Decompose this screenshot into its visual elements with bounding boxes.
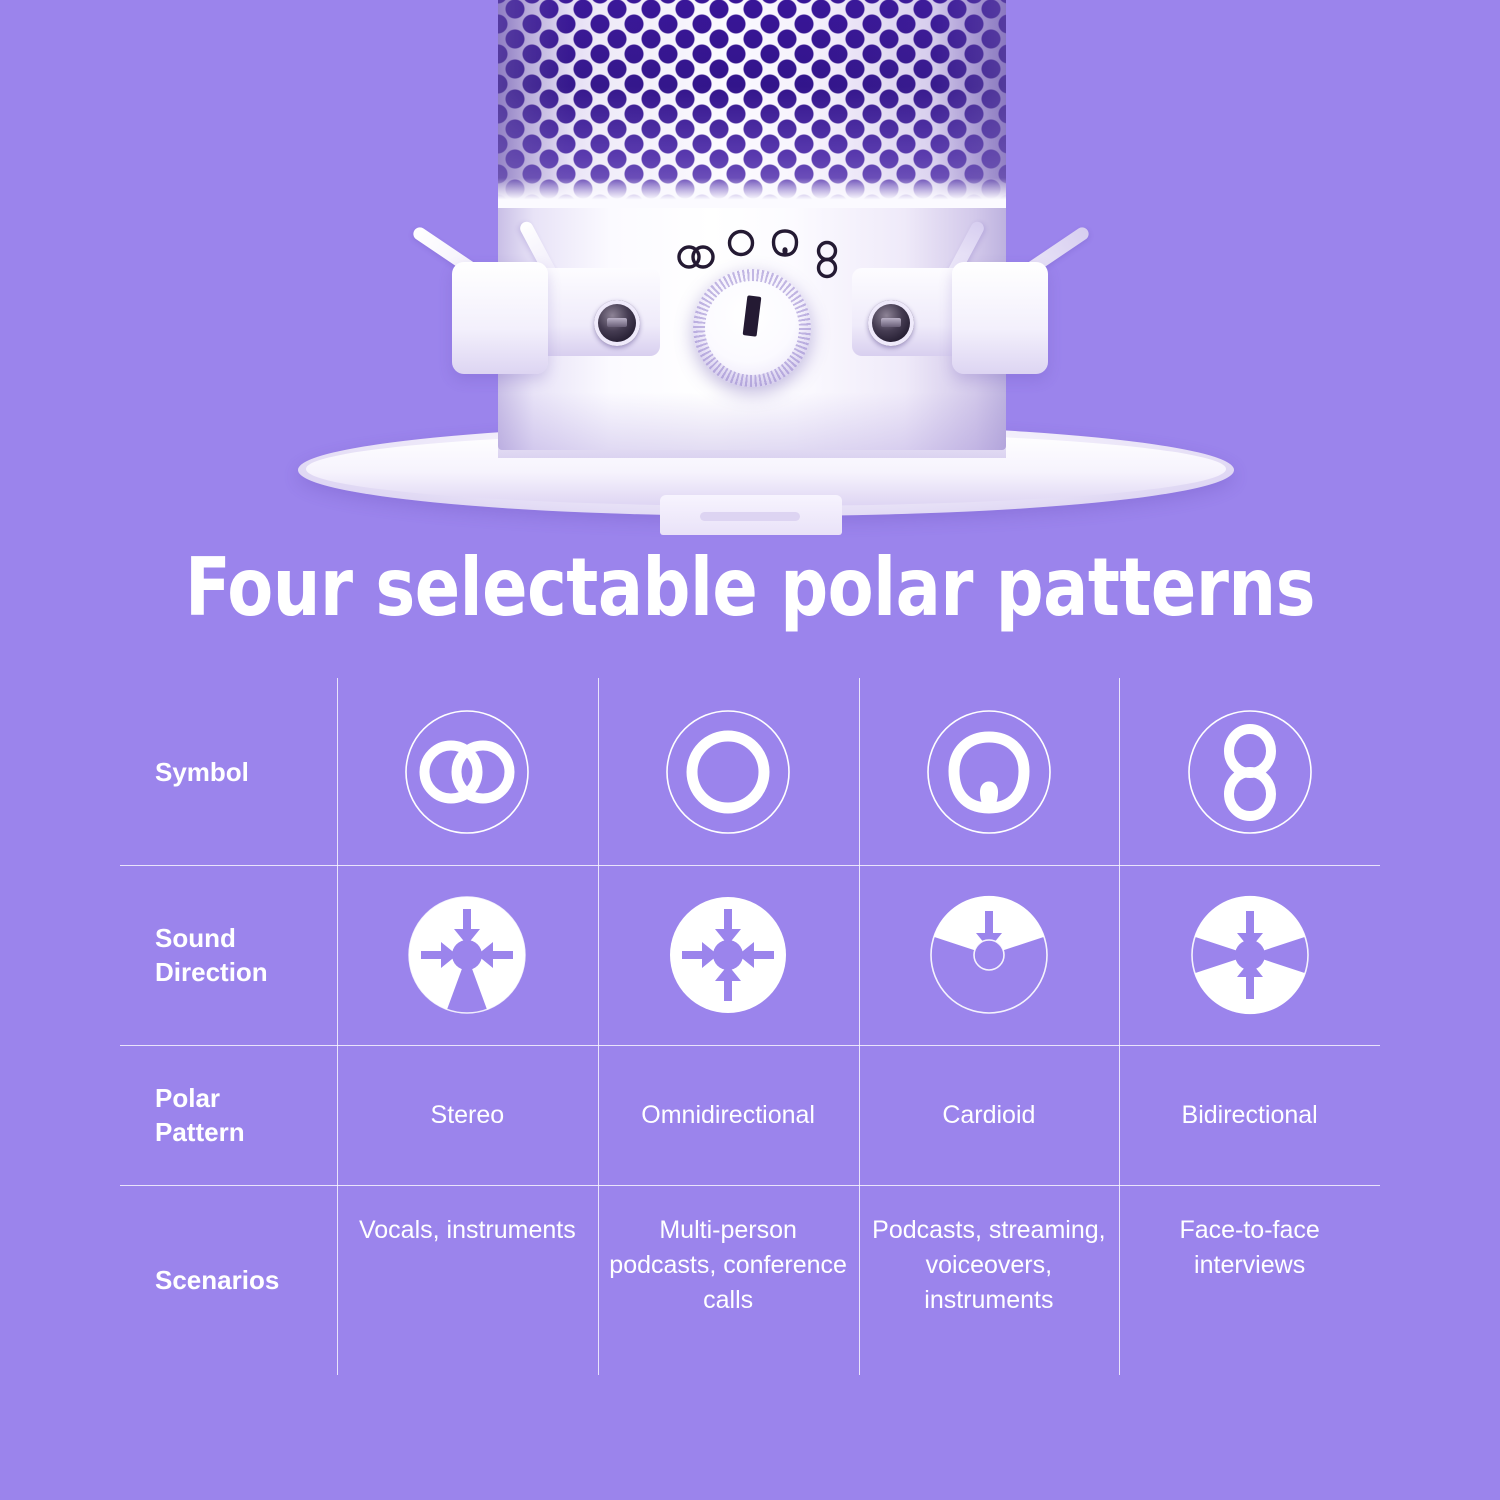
cell-text: Stereo bbox=[431, 1099, 505, 1131]
row-label-text: Symbol bbox=[155, 755, 249, 789]
cardioid-icon bbox=[770, 228, 800, 258]
microphone-base-slot bbox=[700, 512, 800, 521]
row-label-text: Polar Pattern bbox=[155, 1081, 245, 1149]
stereo-icon bbox=[676, 243, 718, 271]
table-row-scenarios: Scenarios Vocals, instruments Multi-pers… bbox=[120, 1185, 1380, 1375]
cell-pattern-omnidirectional: Omnidirectional bbox=[598, 1045, 859, 1185]
page-title: Four selectable polar patterns bbox=[53, 540, 1448, 636]
omnidirectional-icon bbox=[726, 228, 756, 258]
cell-symbol-cardioid bbox=[859, 678, 1120, 865]
microphone-illustration bbox=[0, 0, 1500, 545]
bidirectional-icon bbox=[812, 240, 842, 280]
thumbscrew-left[interactable] bbox=[594, 300, 640, 346]
cell-symbol-stereo bbox=[337, 678, 598, 865]
row-label-text: Scenarios bbox=[155, 1263, 279, 1297]
grille-shading bbox=[498, 0, 1006, 200]
row-label-text: Sound Direction bbox=[155, 921, 268, 989]
bidirectional-symbol-icon bbox=[1185, 707, 1315, 837]
yoke-block-right bbox=[952, 262, 1048, 374]
grille-bottom-fade bbox=[498, 178, 1006, 208]
bidirectional-direction-icon bbox=[1188, 893, 1312, 1017]
table-row-sound-direction: Sound Direction bbox=[120, 865, 1380, 1045]
row-label-sound-direction: Sound Direction bbox=[120, 865, 337, 1045]
table-row-symbol: Symbol bbox=[120, 678, 1380, 865]
row-label-symbol: Symbol bbox=[120, 678, 337, 865]
yoke-block-left bbox=[452, 262, 548, 374]
cell-direction-cardioid bbox=[859, 865, 1120, 1045]
cell-text: Multi-person podcasts, conference calls bbox=[608, 1213, 848, 1318]
cell-pattern-bidirectional: Bidirectional bbox=[1119, 1045, 1380, 1185]
cell-scenarios-stereo: Vocals, instruments bbox=[337, 1185, 598, 1375]
cell-text: Cardioid bbox=[942, 1099, 1035, 1131]
thumbscrew-right[interactable] bbox=[868, 300, 914, 346]
polar-pattern-comparison-table: Symbol bbox=[120, 678, 1380, 1375]
cell-text: Face-to-face interviews bbox=[1130, 1213, 1370, 1283]
cell-pattern-stereo: Stereo bbox=[337, 1045, 598, 1185]
hero-product-photo bbox=[0, 0, 1500, 545]
infographic-page: Four selectable polar patterns Symbol bbox=[0, 0, 1500, 1500]
cell-direction-bidirectional bbox=[1119, 865, 1380, 1045]
cell-direction-omnidirectional bbox=[598, 865, 859, 1045]
microphone-grille bbox=[498, 0, 1006, 200]
microphone-body-shadow bbox=[498, 392, 1006, 458]
cell-text: Podcasts, streaming, voiceovers, instrum… bbox=[869, 1213, 1109, 1318]
stereo-symbol-icon bbox=[402, 707, 532, 837]
cell-symbol-bidirectional bbox=[1119, 678, 1380, 865]
stereo-direction-icon bbox=[405, 893, 529, 1017]
row-label-scenarios: Scenarios bbox=[120, 1185, 337, 1375]
cell-scenarios-bidirectional: Face-to-face interviews bbox=[1119, 1185, 1380, 1375]
cell-direction-stereo bbox=[337, 865, 598, 1045]
cell-scenarios-cardioid: Podcasts, streaming, voiceovers, instrum… bbox=[859, 1185, 1120, 1375]
cell-text: Vocals, instruments bbox=[359, 1213, 576, 1248]
cell-scenarios-omnidirectional: Multi-person podcasts, conference calls bbox=[598, 1185, 859, 1375]
table-row-polar-pattern: Polar Pattern Stereo Omnidirectional Car… bbox=[120, 1045, 1380, 1185]
row-label-polar-pattern: Polar Pattern bbox=[120, 1045, 337, 1185]
cell-pattern-cardioid: Cardioid bbox=[859, 1045, 1120, 1185]
cell-text: Bidirectional bbox=[1182, 1099, 1318, 1131]
omnidirectional-symbol-icon bbox=[663, 707, 793, 837]
cell-text: Omnidirectional bbox=[641, 1099, 815, 1131]
cardioid-direction-icon bbox=[927, 893, 1051, 1017]
omnidirectional-direction-icon bbox=[666, 893, 790, 1017]
cell-symbol-omnidirectional bbox=[598, 678, 859, 865]
cardioid-symbol-icon bbox=[924, 707, 1054, 837]
